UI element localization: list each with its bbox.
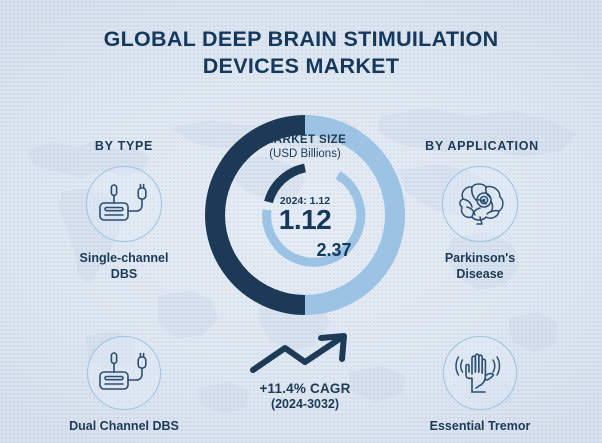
dbs-device-dual-channel-icon [96, 349, 152, 397]
outer-segment-2024 [205, 115, 305, 315]
page-title: GLOBAL DEEP BRAIN STIMUILATION DEVICES M… [0, 26, 602, 80]
section-header-by-type: BY TYPE [44, 139, 204, 153]
application-item-label-essential-tremor: Essential Tremor [400, 419, 560, 435]
label-line-1: Single-channel [80, 251, 169, 265]
label-line-2: DBS [111, 267, 137, 281]
donut-outer-ring [205, 115, 405, 315]
brain-icon [451, 179, 509, 229]
growth-arrow-icon [245, 330, 365, 376]
inner-segment-2024 [269, 168, 306, 202]
outer-segment-2032 [305, 115, 405, 315]
label-line-1: Essential Tremor [430, 419, 531, 433]
icon-circle-essential-tremor [443, 336, 517, 410]
section-header-by-application: BY APPLICATION [400, 139, 564, 153]
label-line-1: Dual Channel DBS [69, 419, 179, 433]
market-size-donut-chart [200, 110, 410, 320]
application-item-parkinsons-disease[interactable]: Parkinson's Disease [400, 166, 560, 282]
application-item-essential-tremor[interactable]: Essential Tremor [400, 336, 560, 435]
donut-inner-ring [267, 168, 361, 262]
label-line-1: Parkinson's [445, 251, 515, 265]
infographic-canvas: GLOBAL DEEP BRAIN STIMUILATION DEVICES M… [0, 0, 602, 443]
icon-circle-single-channel [86, 166, 162, 242]
icon-circle-dual-channel [87, 336, 161, 410]
icon-circle-parkinsons [442, 166, 518, 242]
type-item-single-channel-dbs[interactable]: Single-channel DBS [44, 166, 204, 282]
cagr-period: (2024-3032) [221, 397, 389, 411]
trembling-hand-icon [452, 348, 508, 398]
cagr-block: +11.4% CAGR (2024-3032) [221, 330, 389, 411]
cagr-rate: +11.4% CAGR [221, 381, 389, 396]
inner-segment-2032 [267, 175, 361, 262]
title-line-1: GLOBAL DEEP BRAIN STIMUILATION [0, 26, 602, 53]
application-item-label-parkinsons: Parkinson's Disease [400, 251, 560, 282]
label-line-2: Disease [456, 267, 503, 281]
title-line-2: DEVICES MARKET [0, 53, 602, 80]
type-item-label-single-channel: Single-channel DBS [44, 251, 204, 282]
type-item-dual-channel-dbs[interactable]: Dual Channel DBS [44, 336, 204, 435]
type-item-label-dual-channel: Dual Channel DBS [44, 419, 204, 435]
dbs-device-single-channel-icon [96, 179, 152, 229]
